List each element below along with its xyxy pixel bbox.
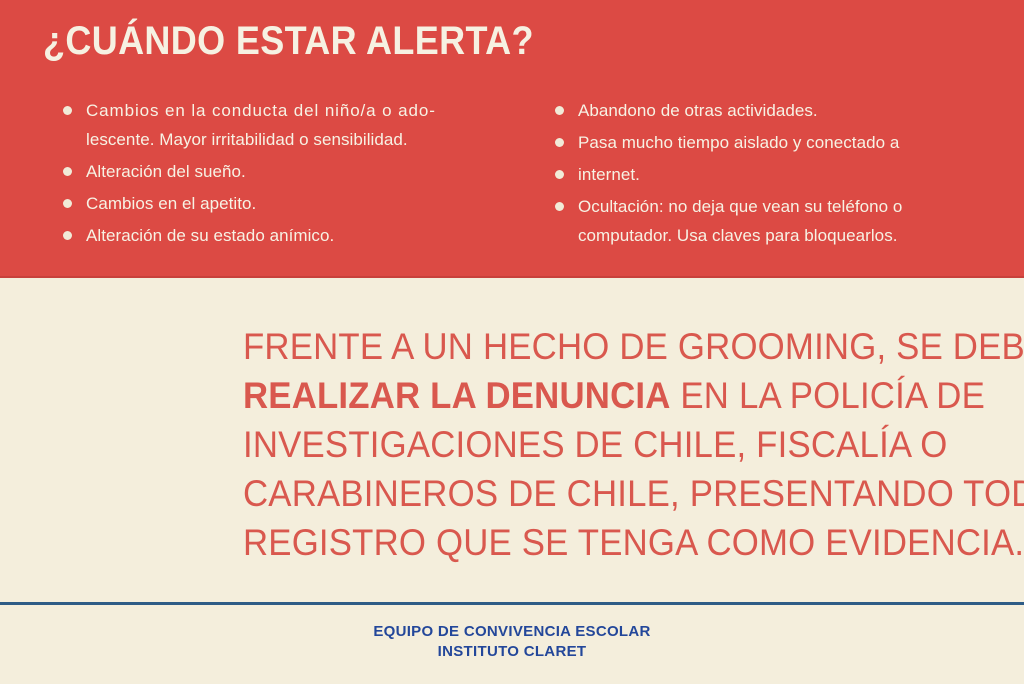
list-item-line: computador. Usa claves para bloquearlos. xyxy=(578,221,982,250)
list-item: Alteración de su estado anímico. xyxy=(60,221,510,250)
message-line-5: REGISTRO QUE SE TENGA COMO EVIDENCIA. xyxy=(243,518,939,567)
list-item: Alteración del sueño. xyxy=(60,157,510,186)
page-title: ¿CUÁNDO ESTAR ALERTA? xyxy=(43,18,534,64)
list-item: Pasa mucho tiempo aislado y conectado a xyxy=(552,128,982,157)
list-item-text: Ocultación: no deja que vean su teléfono… xyxy=(578,192,982,250)
message-emphasis: REALIZAR LA DENUNCIA xyxy=(243,375,671,416)
list-item-line: Cambios en la conducta del niño/a o ado- xyxy=(86,96,510,125)
list-item-text: Cambios en el apetito. xyxy=(86,189,510,218)
list-item-text: internet. xyxy=(578,160,982,189)
footer-line-1: EQUIPO DE CONVIVENCIA ESCOLAR xyxy=(0,622,1024,642)
footer: EQUIPO DE CONVIVENCIA ESCOLAR INSTITUTO … xyxy=(0,622,1024,662)
list-item-text: Pasa mucho tiempo aislado y conectado a xyxy=(578,128,982,157)
bullet-dot-icon xyxy=(63,106,72,115)
list-item-text: Alteración de su estado anímico. xyxy=(86,221,510,250)
list-item-line: Cambios en el apetito. xyxy=(86,189,510,218)
band-bottom-edge xyxy=(0,276,1024,278)
bullet-dot-icon xyxy=(555,202,564,211)
list-item-line: Alteración de su estado anímico. xyxy=(86,221,510,250)
list-item: internet. xyxy=(552,160,982,189)
list-item-line: internet. xyxy=(578,160,982,189)
message-line-4: CARABINEROS DE CHILE, PRESENTANDO TODO xyxy=(243,469,939,518)
alert-bullet-columns: Cambios en la conducta del niño/a o ado-… xyxy=(0,96,1024,261)
infographic-poster: ¿CUÁNDO ESTAR ALERTA? Cambios en la cond… xyxy=(0,0,1024,684)
bullet-dot-icon xyxy=(63,167,72,176)
list-item: Cambios en la conducta del niño/a o ado-… xyxy=(60,96,510,154)
bullet-dot-icon xyxy=(555,138,564,147)
footer-line-2: INSTITUTO CLARET xyxy=(0,642,1024,662)
footer-divider xyxy=(0,602,1024,605)
message-line-3: INVESTIGACIONES DE CHILE, FISCALÍA O xyxy=(243,420,939,469)
list-item-line: Abandono de otras actividades. xyxy=(578,96,982,125)
main-message: FRENTE A UN HECHO DE GROOMING, SE DEBE R… xyxy=(243,322,939,567)
list-item-line: Ocultación: no deja que vean su teléfono… xyxy=(578,192,982,221)
list-item-line: Alteración del sueño. xyxy=(86,157,510,186)
list-item-text: Alteración del sueño. xyxy=(86,157,510,186)
list-item: Cambios en el apetito. xyxy=(60,189,510,218)
list-item-text: Cambios en la conducta del niño/a o ado-… xyxy=(86,96,510,154)
alert-column-left: Cambios en la conducta del niño/a o ado-… xyxy=(60,96,510,253)
bullet-dot-icon xyxy=(63,199,72,208)
message-line-1: FRENTE A UN HECHO DE GROOMING, SE DEBE xyxy=(243,322,939,371)
bullet-dot-icon xyxy=(555,170,564,179)
bullet-dot-icon xyxy=(555,106,564,115)
list-item: Abandono de otras actividades. xyxy=(552,96,982,125)
bullet-dot-icon xyxy=(63,231,72,240)
alert-column-right: Abandono de otras actividades. Pasa much… xyxy=(552,96,982,253)
message-line-2-rest: EN LA POLICÍA DE xyxy=(671,375,985,416)
message-line-2: REALIZAR LA DENUNCIA EN LA POLICÍA DE xyxy=(243,371,939,420)
list-item: Ocultación: no deja que vean su teléfono… xyxy=(552,192,982,250)
alert-band: ¿CUÁNDO ESTAR ALERTA? Cambios en la cond… xyxy=(0,0,1024,278)
list-item-text: Abandono de otras actividades. xyxy=(578,96,982,125)
list-item-line: lescente. Mayor irritabilidad o sensibil… xyxy=(86,125,510,154)
list-item-line: Pasa mucho tiempo aislado y conectado a xyxy=(578,128,982,157)
